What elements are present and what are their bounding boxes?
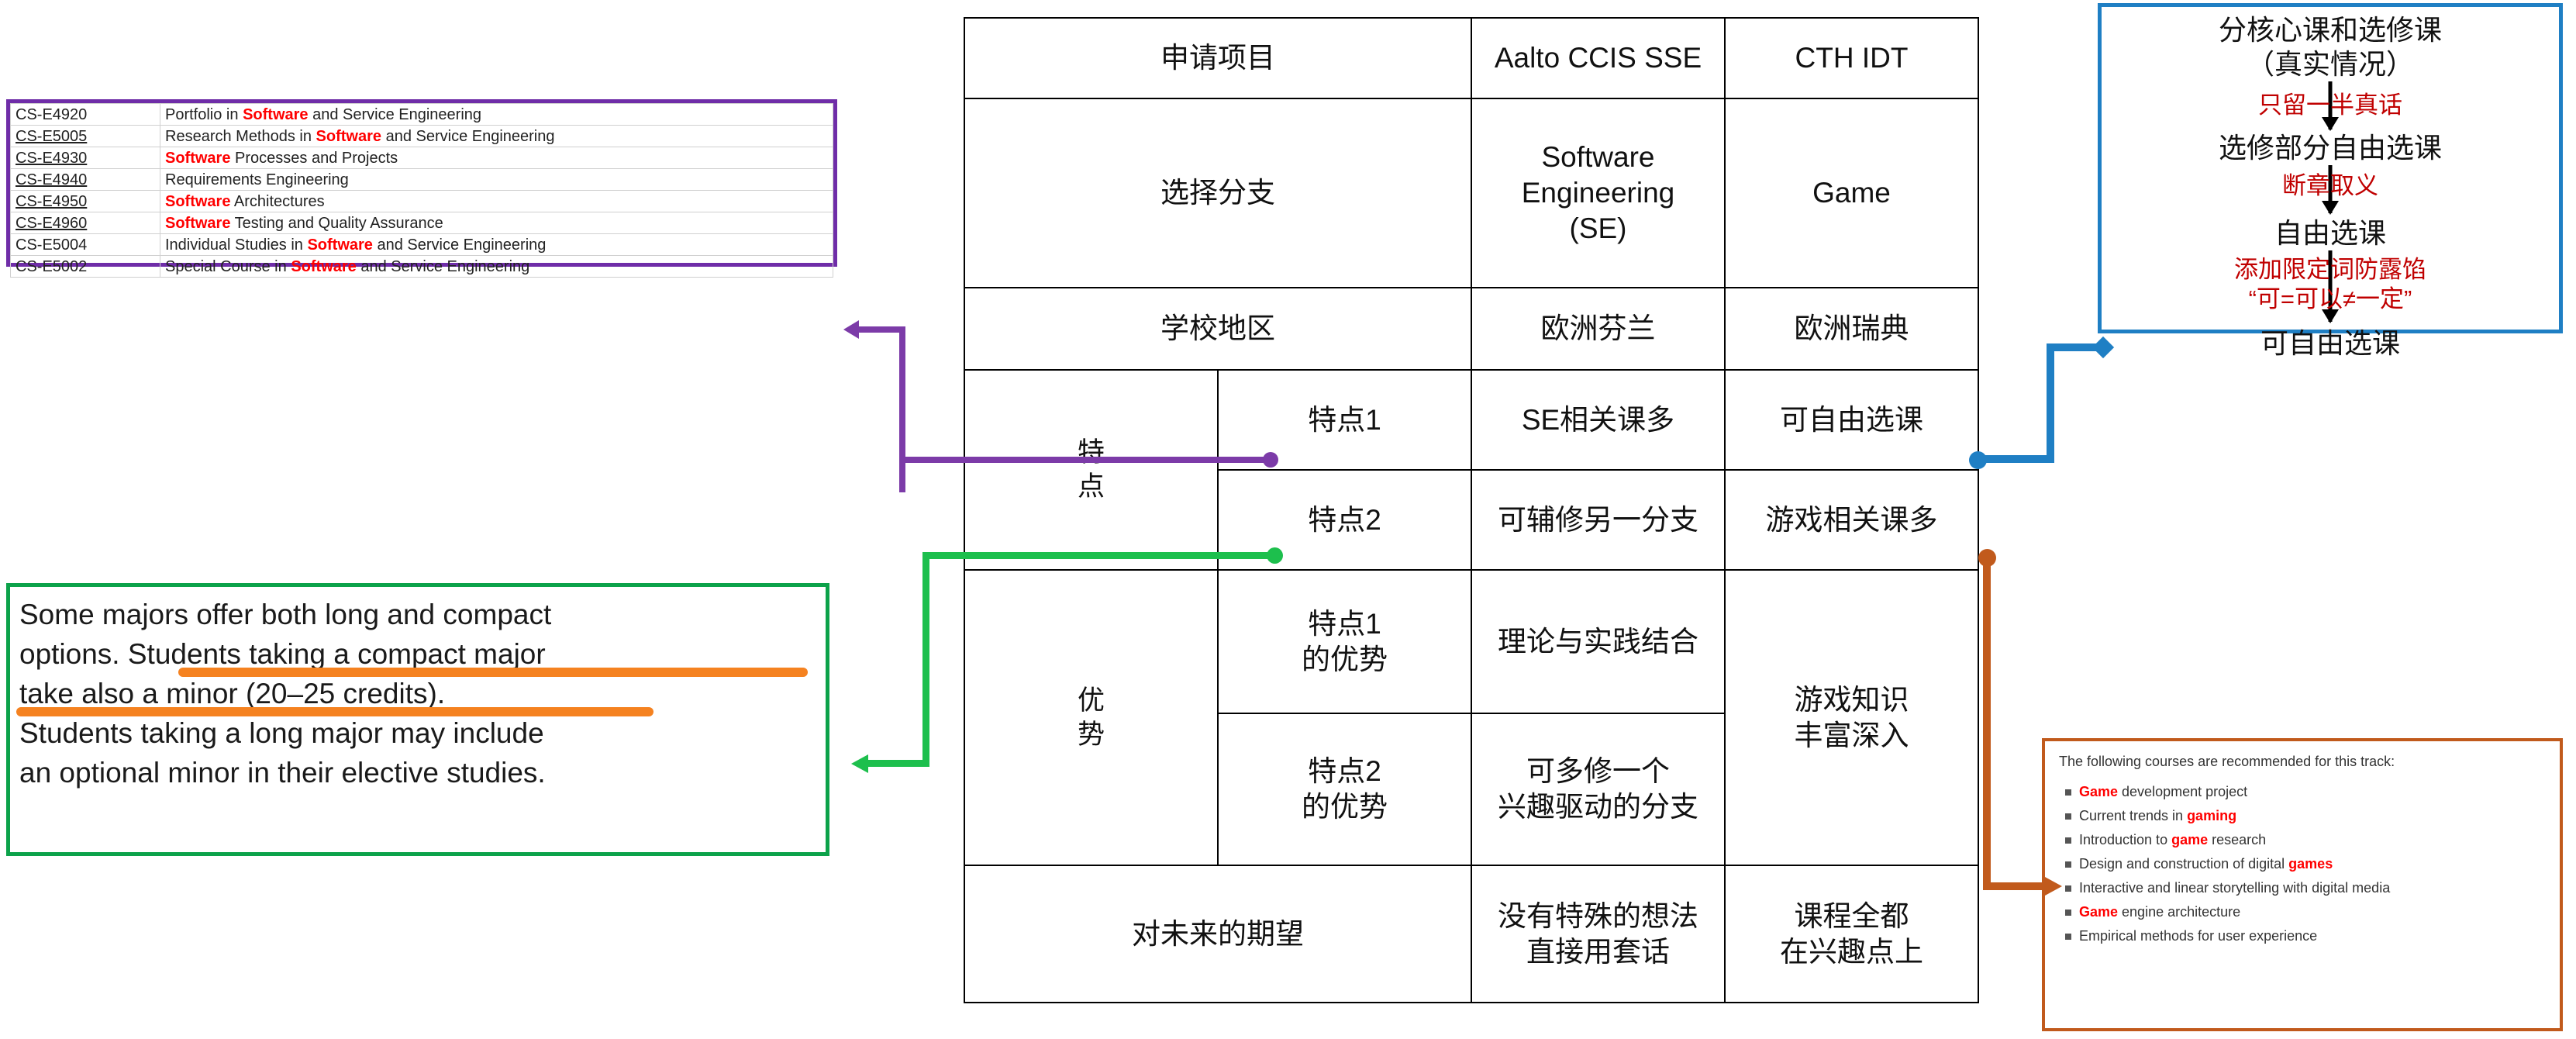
table-row: CS-E5002Special Course in Software and S… <box>11 256 833 278</box>
list-item: Introduction to game research <box>2079 833 2546 847</box>
orange-connector-v <box>1983 557 1991 890</box>
green-arrow-head-icon <box>851 754 868 773</box>
list-item: Game engine architecture <box>2079 905 2546 920</box>
table-row: CS-E5005Research Methods in Software and… <box>11 126 833 147</box>
note-line: options. Students taking a compact major <box>19 634 816 674</box>
cell-region-cth: 欧洲瑞典 <box>1725 288 1978 371</box>
course-code: CS-E4960 <box>11 212 160 234</box>
green-connector-v <box>922 552 929 767</box>
header-cth: CTH IDT <box>1725 18 1978 98</box>
list-item: Design and construction of digital games <box>2079 857 2546 872</box>
purple-connector-v <box>899 326 905 492</box>
table-row-branch: 选择分支 SoftwareEngineering(SE) Game <box>964 98 1978 288</box>
table-row-advantage1: 优势 特点1的优势 理论与实践结合 游戏知识丰富深入 <box>964 570 1978 713</box>
elective-flow-box: 分核心课和选修课 （真实情况） 只留一半真话 选修部分自由选课 断章取义 自由选… <box>2098 3 2563 333</box>
cell-region-aalto: 欧洲芬兰 <box>1471 288 1725 371</box>
row-label-region: 学校地区 <box>964 288 1471 371</box>
note-line: Students taking a long major may include <box>19 713 816 753</box>
recommended-courses-box: The following courses are recommended fo… <box>2042 738 2563 1031</box>
table-row: CS-E4920Portfolio in Software and Servic… <box>11 104 833 126</box>
bullet-square-icon <box>2065 837 2071 844</box>
list-item: Interactive and linear storytelling with… <box>2079 881 2546 896</box>
cell-expectation-aalto: 没有特殊的想法直接用套话 <box>1471 865 1725 1003</box>
cell-feature2-cth: 游戏相关课多 <box>1725 470 1978 570</box>
course-code: CS-E5005 <box>11 126 160 147</box>
list-item: Game development project <box>2079 785 2546 799</box>
cell-feature2-aalto: 可辅修另一分支 <box>1471 470 1725 570</box>
course-title: Portfolio in Software and Service Engine… <box>160 104 833 126</box>
bullet-square-icon <box>2065 813 2071 820</box>
header-apply-item: 申请项目 <box>964 18 1471 98</box>
row-label-branch: 选择分支 <box>964 98 1471 288</box>
row-label-expectation: 对未来的期望 <box>964 865 1471 1003</box>
flow-arrow-3: 添加限定词防露馅 “可=可以≠一定” <box>2102 250 2559 322</box>
purple-arrow-head-icon <box>843 320 859 339</box>
bullet-square-icon <box>2065 910 2071 916</box>
flow-arrow-2: 断章取义 <box>2102 165 2559 213</box>
course-list-table: CS-E4920Portfolio in Software and Servic… <box>10 103 833 278</box>
table-row: CS-E4960Software Testing and Quality Ass… <box>11 212 833 234</box>
sub-label-advantage1: 特点1的优势 <box>1218 570 1471 713</box>
orange-arrow-head-icon <box>2045 877 2062 896</box>
flow-node-title-1: 分核心课和选修课 <box>2102 13 2559 47</box>
flow-node-title-2: （真实情况） <box>2102 47 2559 81</box>
cell-branch-cth: Game <box>1725 98 1978 288</box>
course-title: Software Processes and Projects <box>160 147 833 169</box>
table-row-feature1: 特点 特点1 SE相关课多 可自由选课 <box>964 370 1978 470</box>
blue-connector-v <box>2047 343 2054 463</box>
keyword-highlight: Game <box>2079 784 2118 799</box>
green-connector-h1 <box>867 760 929 767</box>
list-item: Current trends in gaming <box>2079 809 2546 823</box>
recommended-course-list: Game development projectCurrent trends i… <box>2059 785 2546 944</box>
keyword-highlight: Software <box>165 215 230 232</box>
keyword-highlight: Software <box>243 106 308 123</box>
cell-branch-aalto: SoftwareEngineering(SE) <box>1471 98 1725 288</box>
sub-label-feature1: 特点1 <box>1218 370 1471 470</box>
course-title: Special Course in Software and Service E… <box>160 256 833 278</box>
keyword-highlight: Software <box>307 236 372 254</box>
header-aalto: Aalto CCIS SSE <box>1471 18 1725 98</box>
course-title: Research Methods in Software and Service… <box>160 126 833 147</box>
green-connector-h2 <box>922 552 1276 559</box>
keyword-highlight: Software <box>316 128 381 145</box>
bullet-square-icon <box>2065 885 2071 892</box>
keyword-highlight: Game <box>2079 904 2118 920</box>
table-row-expectation: 对未来的期望 没有特殊的想法直接用套话 课程全都在兴趣点上 <box>964 865 1978 1003</box>
course-title: Software Architectures <box>160 191 833 212</box>
flow-edge-label-3: 添加限定词防露馅 <box>2102 250 2559 285</box>
course-code: CS-E4920 <box>11 104 160 126</box>
course-title: Software Testing and Quality Assurance <box>160 212 833 234</box>
course-code: CS-E4940 <box>11 169 160 191</box>
comparison-table: 申请项目 Aalto CCIS SSE CTH IDT 选择分支 Softwar… <box>964 17 1979 1003</box>
purple-endpoint-dot <box>1263 452 1278 468</box>
course-code: CS-E4930 <box>11 147 160 169</box>
keyword-highlight: Software <box>165 150 230 167</box>
cell-advantage1-aalto: 理论与实践结合 <box>1471 570 1725 713</box>
keyword-highlight: Software <box>291 258 356 275</box>
note-line: an optional minor in their elective stud… <box>19 753 816 792</box>
sub-label-advantage2: 特点2的优势 <box>1218 713 1471 865</box>
green-endpoint-dot <box>1267 547 1283 564</box>
course-code: CS-E5002 <box>11 256 160 278</box>
course-code: CS-E4950 <box>11 191 160 212</box>
flow-arrow-1: 只留一半真话 <box>2102 81 2559 129</box>
bullet-square-icon <box>2065 934 2071 940</box>
table-row: CS-E4940Requirements Engineering <box>11 169 833 191</box>
bullet-square-icon <box>2065 789 2071 796</box>
keyword-highlight: gaming <box>2187 808 2236 823</box>
arrow-head-icon <box>2322 201 2339 215</box>
cell-expectation-cth: 课程全都在兴趣点上 <box>1725 865 1978 1003</box>
purple-connector-h1 <box>856 326 904 333</box>
flow-node-4: 可自由选课 <box>2102 326 2559 361</box>
blue-connector-h1 <box>1978 455 2054 463</box>
list-item: Empirical methods for user experience <box>2079 929 2546 944</box>
table-row-header: 申请项目 Aalto CCIS SSE CTH IDT <box>964 18 1978 98</box>
cell-feature1-cth: 可自由选课 <box>1725 370 1978 470</box>
note-line: take also a minor (20–25 credits). <box>19 674 816 713</box>
keyword-highlight: game <box>2171 832 2208 847</box>
row-label-advantages: 优势 <box>964 570 1218 865</box>
keyword-highlight: games <box>2288 856 2333 872</box>
orange-connector-h <box>1983 882 2047 890</box>
table-row: CS-E4930Software Processes and Projects <box>11 147 833 169</box>
flow-edge-label-4: “可=可以≠一定” <box>2102 285 2559 314</box>
purple-connector-h2 <box>899 457 1273 463</box>
flow-node-2: 选修部分自由选课 <box>2102 131 2559 165</box>
course-title: Individual Studies in Software and Servi… <box>160 234 833 256</box>
recommend-intro: The following courses are recommended fo… <box>2059 752 2546 771</box>
keyword-highlight: Software <box>165 193 230 210</box>
course-title: Requirements Engineering <box>160 169 833 191</box>
note-line: Some majors offer both long and compact <box>19 595 816 634</box>
bullet-square-icon <box>2065 861 2071 868</box>
minor-info-note-box: Some majors offer both long and compact … <box>6 583 829 856</box>
flow-node-3: 自由选课 <box>2102 216 2559 250</box>
cell-advantage2-aalto: 可多修一个兴趣驱动的分支 <box>1471 713 1725 865</box>
comparison-table-wrapper: 申请项目 Aalto CCIS SSE CTH IDT 选择分支 Softwar… <box>964 17 1979 1003</box>
flow-edge-label-2: 断章取义 <box>2102 165 2559 201</box>
course-list-box: CS-E4920Portfolio in Software and Servic… <box>6 99 837 267</box>
course-code: CS-E5004 <box>11 234 160 256</box>
table-row: CS-E5004Individual Studies in Software a… <box>11 234 833 256</box>
cell-feature1-aalto: SE相关课多 <box>1471 370 1725 470</box>
table-row: CS-E4950Software Architectures <box>11 191 833 212</box>
flow-edge-label-1: 只留一半真话 <box>2102 81 2559 120</box>
table-row-region: 学校地区 欧洲芬兰 欧洲瑞典 <box>964 288 1978 371</box>
cell-advantage-cth: 游戏知识丰富深入 <box>1725 570 1978 865</box>
row-label-features: 特点 <box>964 370 1218 570</box>
